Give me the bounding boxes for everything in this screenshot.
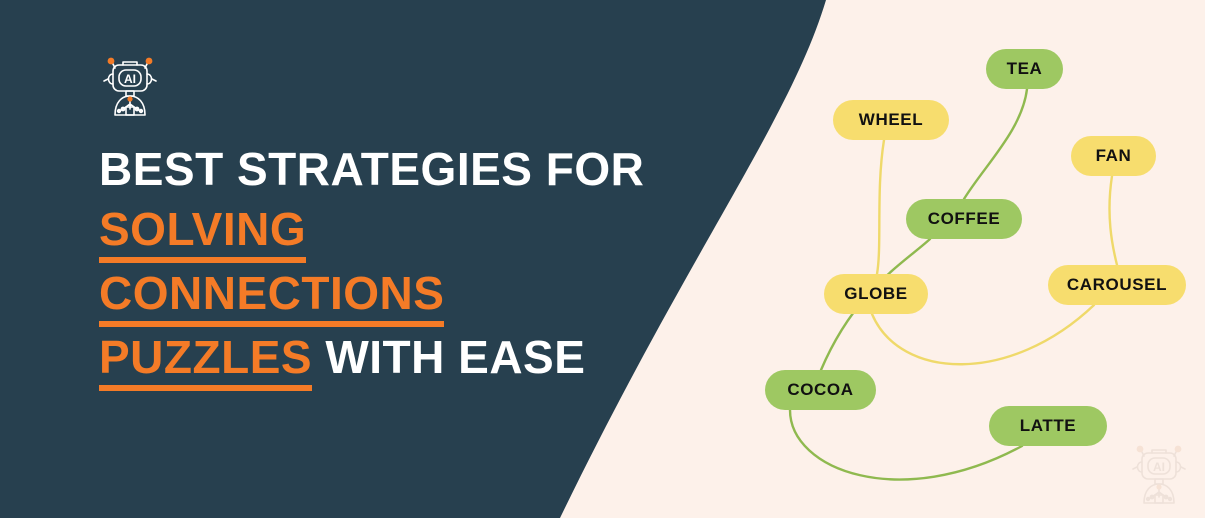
logo-face-label: AI [124,72,136,86]
graph-node-latte[interactable]: LATTE [989,406,1107,446]
graph-node-label: COCOA [787,380,853,400]
graph-node-fan[interactable]: FAN [1071,136,1156,176]
headline-line-2: SOLVING [99,199,719,263]
graph-node-label: WHEEL [859,110,923,130]
logo-body-dot [127,96,132,101]
logo-antenna-dot-left [108,58,115,65]
ai-robot-logo: AI [99,52,161,118]
graph-node-carousel[interactable]: CAROUSEL [1048,265,1186,305]
logo-antenna-dot-right [146,58,153,65]
headline-block: BEST STRATEGIES FOR SOLVING CONNECTIONS … [99,139,719,391]
graph-node-label: CAROUSEL [1067,275,1167,295]
graph-node-tea[interactable]: TEA [986,49,1063,89]
graph-edge-tea-coffee [964,89,1027,199]
graph-node-label: GLOBE [844,284,907,304]
graph-node-globe[interactable]: GLOBE [824,274,928,314]
graph-edge-fan-carousel [1109,176,1117,265]
banner-canvas: AI BEST STRATEGIES FOR SOLVING CONNECTIO… [0,0,1205,518]
graph-node-cocoa[interactable]: COCOA [765,370,876,410]
graph-node-label: TEA [1007,59,1043,79]
headline-line-4-rest: WITH EASE [312,331,585,383]
graph-node-label: LATTE [1020,416,1077,436]
graph-node-label: FAN [1096,146,1132,166]
graph-edge-wheel-globe [877,140,884,274]
headline-line-4: PUZZLES WITH EASE [99,327,719,391]
headline-accent-connections: CONNECTIONS [99,267,444,327]
graph-edge-cocoa-latte [790,410,1022,479]
headline-accent-puzzles: PUZZLES [99,331,312,391]
graph-node-label: COFFEE [928,209,1001,229]
headline-line-1: BEST STRATEGIES FOR [99,139,719,199]
graph-node-wheel[interactable]: WHEEL [833,100,949,140]
headline-accent-solving: SOLVING [99,203,306,263]
graph-node-coffee[interactable]: COFFEE [906,199,1022,239]
headline-line-3: CONNECTIONS [99,263,719,327]
